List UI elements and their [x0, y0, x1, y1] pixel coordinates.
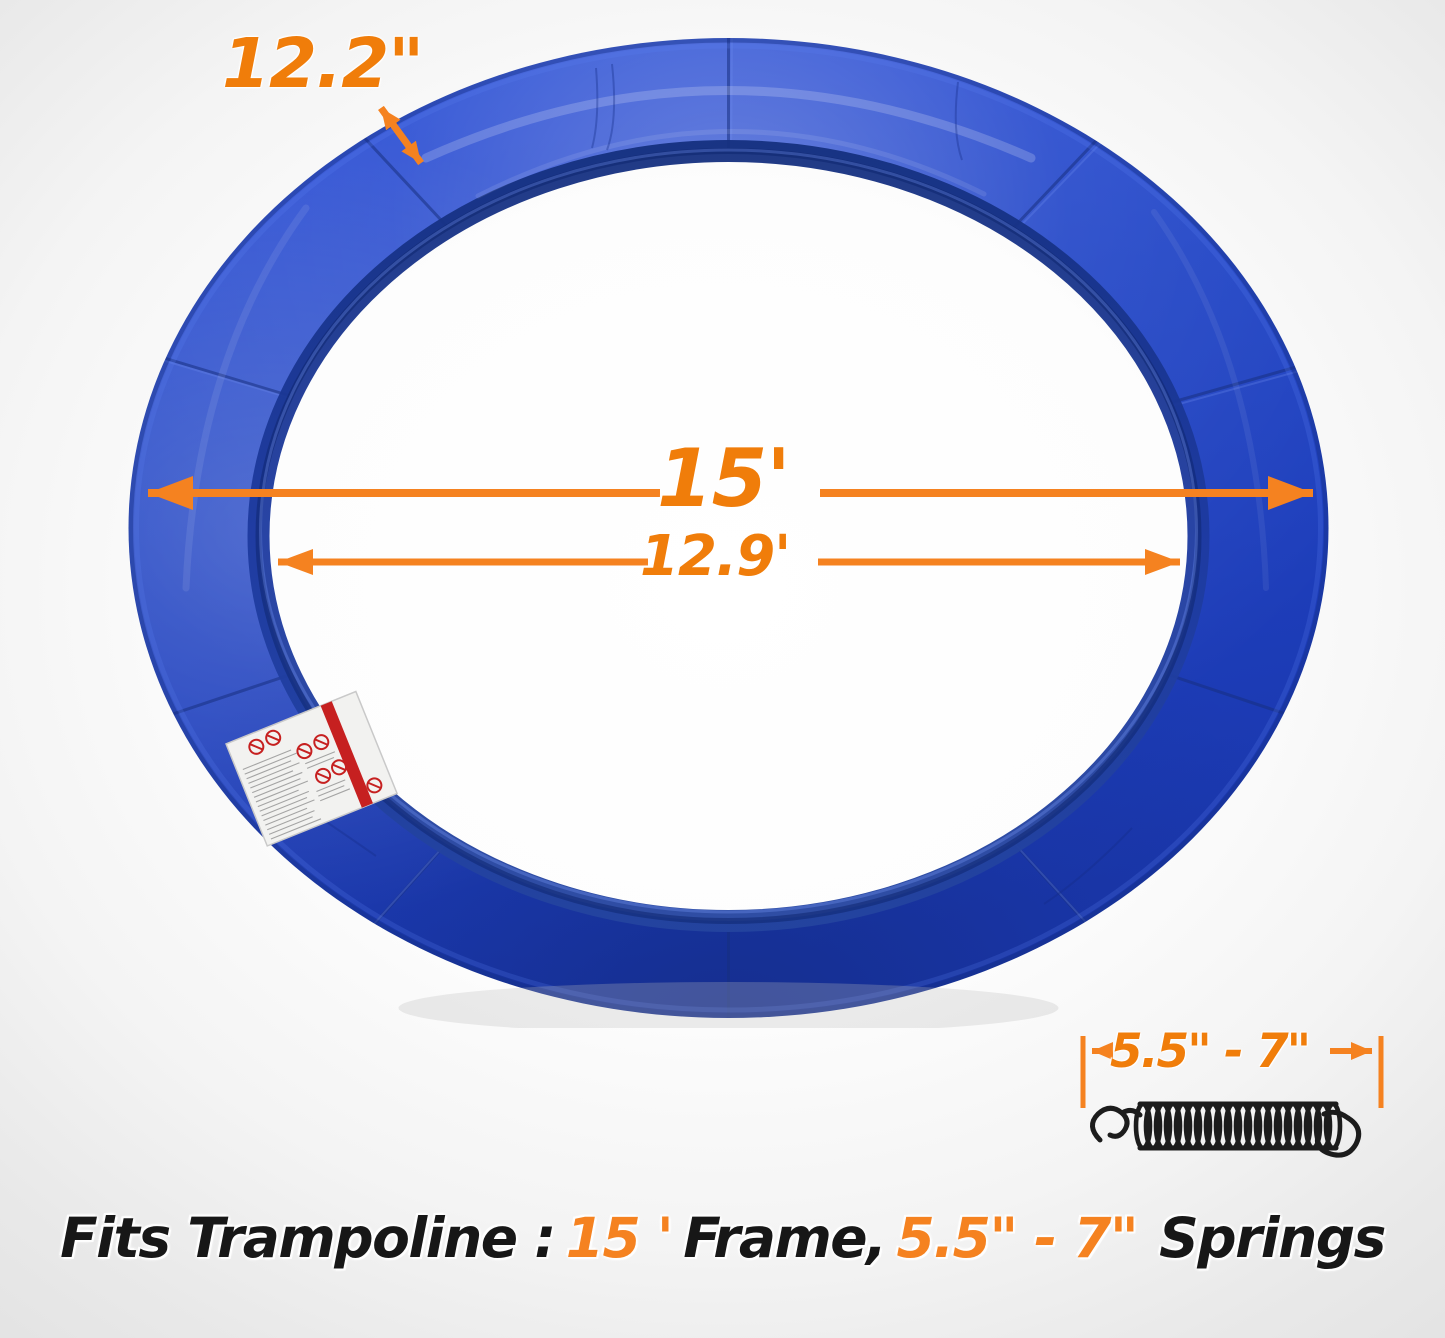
caption-spring-value: 5.5" - 7" [897, 1206, 1138, 1270]
trampoline-spring [1092, 1104, 1358, 1155]
fits-trampoline-caption: Fits Trampoline :15 'Frame,5.5" - 7"Spri… [0, 1206, 1445, 1270]
spring-length-label: 5.5" - 7" [1110, 1024, 1309, 1079]
product-image-canvas: 12.2" 15' 12.9' 5.5" - 7" Fits Trampolin… [0, 0, 1445, 1338]
caption-spring-word: Springs [1159, 1206, 1385, 1270]
caption-prefix: Fits Trampoline : [60, 1206, 555, 1270]
pad-width-label: 12.2" [222, 24, 423, 104]
caption-frame-word: Frame, [683, 1206, 885, 1270]
inner-diameter-label: 12.9' [640, 524, 790, 589]
safety-warning-sticker [224, 688, 399, 853]
outer-diameter-label: 15' [657, 432, 790, 525]
caption-frame-value: 15 ' [566, 1206, 673, 1270]
